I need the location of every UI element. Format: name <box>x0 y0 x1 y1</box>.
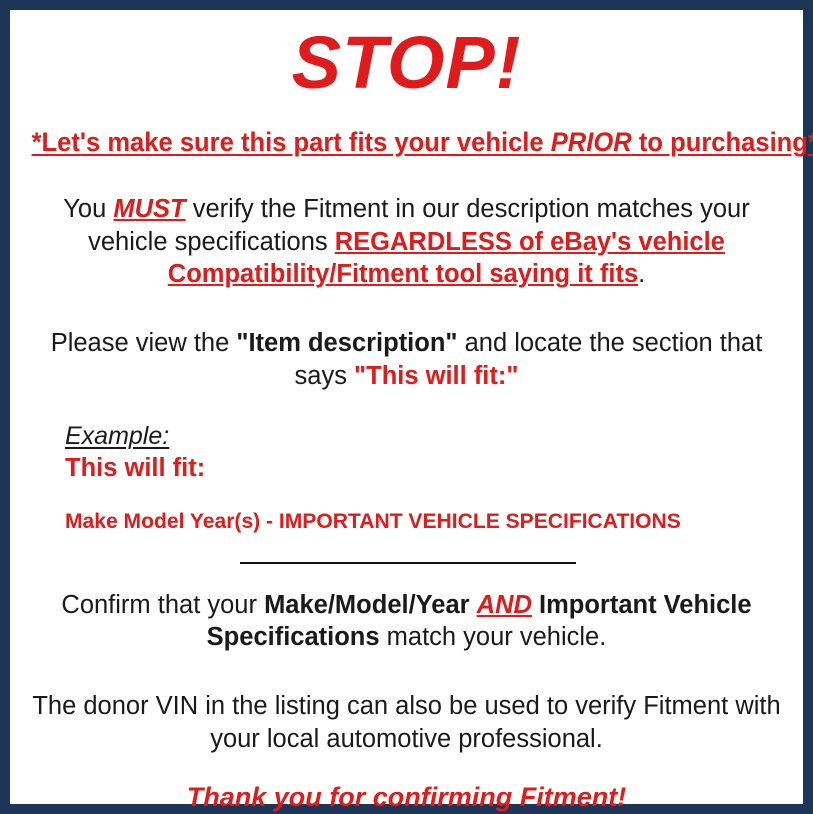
example-this-will-fit: This will fit: <box>65 450 795 484</box>
vin-text: The donor VIN in the listing can also be… <box>32 692 780 753</box>
confirm-space-1 <box>470 591 477 619</box>
and-emphasis: AND <box>477 591 532 619</box>
subtitle-emphasis: PRIOR <box>551 127 632 157</box>
this-will-fit-quote: "This will fit:" <box>354 362 518 390</box>
confirm-seg-1: Confirm that your <box>61 591 264 619</box>
itemdesc-seg-1: Please view the <box>51 329 237 357</box>
example-specification-line: Make Model Year(s) - IMPORTANT VEHICLE S… <box>65 484 780 535</box>
must-seg-1: You <box>63 195 113 223</box>
item-description-label: "Item description" <box>236 329 457 357</box>
confirm-seg-2: match your vehicle. <box>380 623 607 651</box>
page-title: STOP! <box>18 10 795 100</box>
notice-body: STOP! *Let's make sure this part fits yo… <box>10 10 803 804</box>
must-emphasis: MUST <box>113 195 185 223</box>
subtitle-prefix: *Let's make sure this part fits your veh… <box>32 127 551 157</box>
example-label: Example: <box>65 422 795 450</box>
must-seg-3: . <box>638 260 645 288</box>
confirm-space-2 <box>532 591 539 619</box>
paragraph-confirm: Confirm that your Make/Model/Year AND Im… <box>18 564 795 654</box>
subtitle-suffix: to purchasing* <box>632 127 813 157</box>
closing-thank-you: Thank you for confirming Fitment! <box>18 755 795 813</box>
example-block: Example: This will fit: Make Model Year(… <box>18 392 795 534</box>
fitment-notice-card: STOP! *Let's make sure this part fits yo… <box>0 0 813 814</box>
subtitle-warning: *Let's make sure this part fits your veh… <box>32 100 782 157</box>
divider <box>18 535 795 564</box>
make-model-year-label: Make/Model/Year <box>264 591 470 619</box>
paragraph-must-verify: You MUST verify the Fitment in our descr… <box>18 157 795 291</box>
paragraph-donor-vin: The donor VIN in the listing can also be… <box>18 654 795 755</box>
paragraph-item-description: Please view the "Item description" and l… <box>18 291 795 392</box>
